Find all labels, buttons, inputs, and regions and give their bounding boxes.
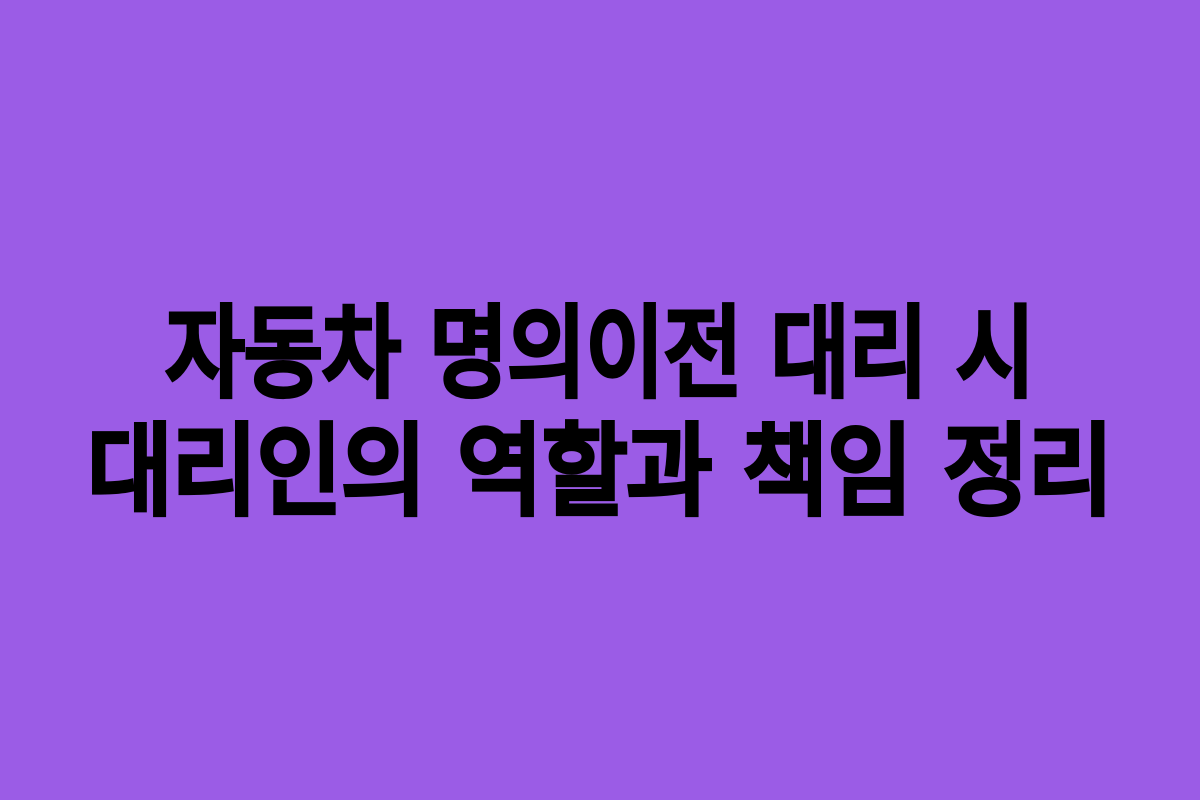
thumbnail-banner: 자동차 명의이전 대리 시 대리인의 역할과 책임 정리 — [0, 0, 1200, 800]
headline-line-1: 자동차 명의이전 대리 시 — [85, 295, 1115, 413]
headline-block: 자동차 명의이전 대리 시 대리인의 역할과 책임 정리 — [0, 295, 1200, 531]
headline-line-2: 대리인의 역할과 책임 정리 — [42, 413, 1158, 531]
